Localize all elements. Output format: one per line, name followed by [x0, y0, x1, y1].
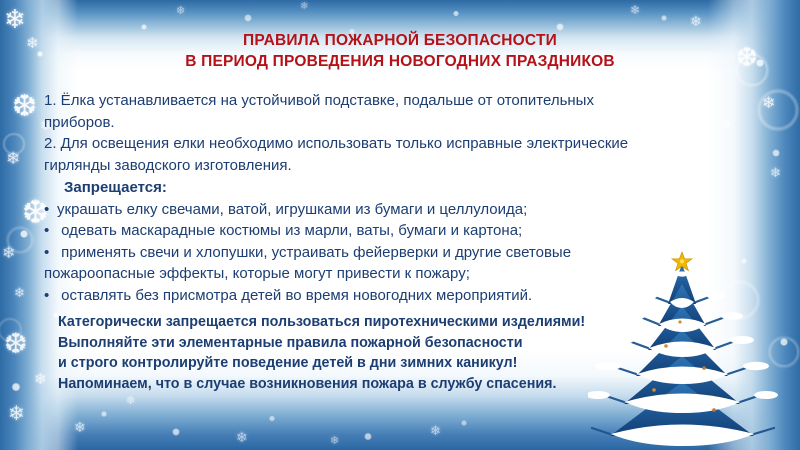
bullet-icon: •: [44, 242, 57, 264]
winter-fire-safety-poster: ❄ ❄ ❆ ❄ ❄ ❆ ❄ ❄ ❆ ❄ ❄ ❄ ❄ ❄ ❄ ❆ ❄ ❄ ❄ ❄ …: [0, 0, 800, 450]
rule-2-line-1: 2. Для освещения елки необходимо использ…: [44, 133, 670, 155]
list-item: • применять свечи и хлопушки, устраивать…: [44, 242, 670, 285]
footer-warning-block: Категорически запрещается пользоваться п…: [58, 312, 698, 394]
bullet-icon: •: [44, 285, 57, 307]
list-item: •украшать елку свечами, ватой, игрушками…: [44, 199, 670, 221]
list-item: • оставлять без присмотра детей во время…: [44, 285, 670, 307]
page-title: ПРАВИЛА ПОЖАРНОЙ БЕЗОПАСНОСТИ В ПЕРИОД П…: [0, 30, 800, 72]
rule-1-line-1: 1. Ёлка устанавливается на устойчивой по…: [44, 90, 670, 112]
footer-line-4: Напоминаем, что в случае возникновения п…: [58, 374, 698, 395]
prohibited-item-2-text: одевать маскарадные костюмы из марли, ва…: [57, 222, 522, 239]
prohibited-heading: Запрещается:: [44, 177, 670, 199]
rule-1-line-2: приборов.: [44, 112, 670, 134]
rule-item-2: 2. Для освещения елки необходимо использ…: [44, 133, 670, 176]
prohibited-item-4-text: оставлять без присмотра детей во время н…: [57, 287, 532, 304]
footer-line-2: Выполняйте эти элементарные правила пожа…: [58, 333, 698, 354]
prohibited-item-3-text-cont: пожароопасные эффекты, которые могут при…: [44, 263, 670, 285]
prohibited-item-1-text: украшать елку свечами, ватой, игрушками …: [57, 201, 527, 218]
poster-content: ПРАВИЛА ПОЖАРНОЙ БЕЗОПАСНОСТИ В ПЕРИОД П…: [0, 0, 800, 450]
rule-2-line-2: гирлянды заводского изготовления.: [44, 155, 670, 177]
title-line-2: В ПЕРИОД ПРОВЕДЕНИЯ НОВОГОДНИХ ПРАЗДНИКО…: [0, 51, 800, 72]
bullet-icon: •: [44, 199, 57, 221]
footer-line-1: Категорически запрещается пользоваться п…: [58, 312, 698, 333]
rule-item-1: 1. Ёлка устанавливается на устойчивой по…: [44, 90, 670, 133]
footer-line-3: и строго контролируйте поведение детей в…: [58, 353, 698, 374]
bullet-icon: •: [44, 220, 57, 242]
prohibited-item-3-text: применять свечи и хлопушки, устраивать ф…: [57, 244, 571, 261]
rules-body: 1. Ёлка устанавливается на устойчивой по…: [44, 90, 670, 306]
list-item: • одевать маскарадные костюмы из марли, …: [44, 220, 670, 242]
title-line-1: ПРАВИЛА ПОЖАРНОЙ БЕЗОПАСНОСТИ: [0, 30, 800, 51]
